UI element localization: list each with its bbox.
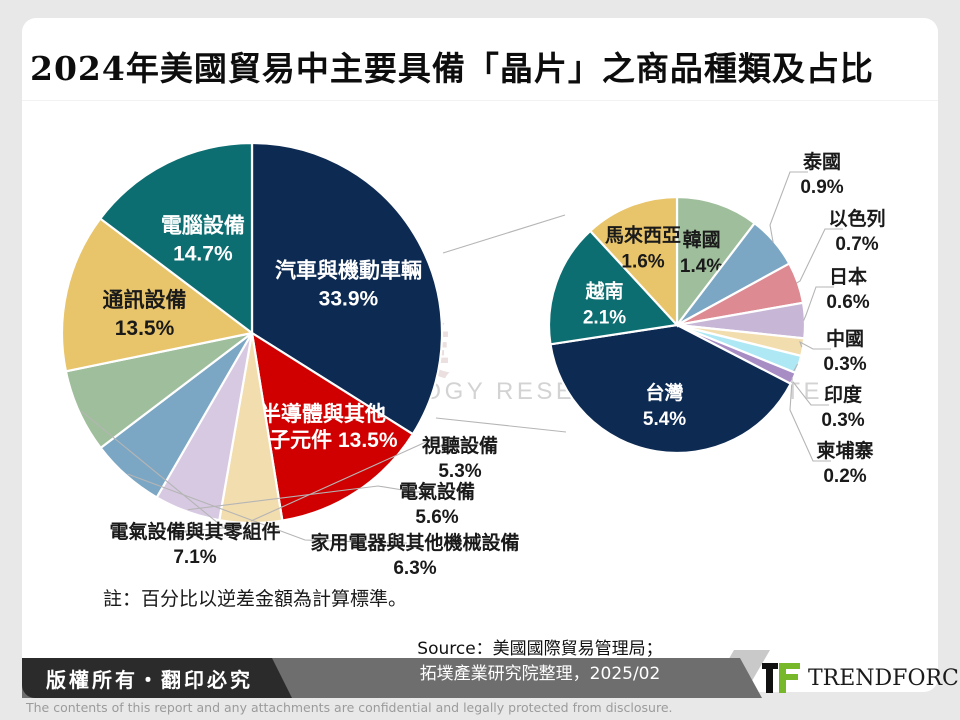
source-line-1: Source：美國國際貿易管理局；	[330, 637, 750, 662]
pie-slice-value: 33.9%	[319, 288, 379, 311]
pie-slice-label: 日本	[829, 265, 867, 288]
pie-slice-value: 0.3%	[823, 354, 866, 375]
pie-slice-value: 0.3%	[821, 410, 864, 431]
pie-slice-value: 6.3%	[393, 558, 436, 579]
explosion-connectors	[436, 215, 566, 432]
copyright-label: 版權所有・翻印必究	[46, 664, 253, 693]
confidentiality-disclaimer: The contents of this report and any atta…	[26, 700, 673, 715]
pie-slice-label: 汽車與機動車輛	[275, 259, 422, 283]
pie-slice-label: 視聽設備	[421, 434, 498, 457]
pie-slice-value: 5.6%	[415, 507, 458, 528]
pie-slice-value: 0.6%	[826, 292, 869, 313]
pie-slice-label: 韓國	[683, 228, 721, 251]
pie-slice-value: 1.6%	[621, 251, 664, 272]
pie-slice-value: 7.1%	[173, 547, 216, 568]
pie-slice-label: 電腦設備	[161, 213, 245, 237]
pie-slice-label: 柬埔寨	[816, 439, 873, 462]
pie-slice-label: 電氣設備與其零組件	[109, 520, 280, 543]
pie-slice-label: 越南	[585, 280, 624, 303]
pie-slice-value: 5.3%	[438, 461, 481, 482]
pie-slice-label: 以色列	[828, 207, 885, 230]
pie-slice-label: 中國	[826, 327, 864, 350]
pie-slice-label: 電氣設備	[399, 480, 475, 503]
pie-slice-value: 0.2%	[823, 466, 866, 487]
pie-slice-label: 台灣	[646, 381, 684, 404]
pie-slice-label: 印度	[824, 383, 863, 406]
pie-slice-label: 通訊設備	[102, 288, 186, 312]
pie-slice-label: 家用電器與其他機械設備	[310, 531, 519, 554]
slide-canvas: 2024年美國貿易中主要具備「晶片」之商品種類及占比 拓墣 RI TOPOLOG…	[0, 0, 960, 720]
trendforce-mark-icon	[762, 663, 800, 693]
pie-charts: 汽車與機動車輛33.9%半導體與其他電子元件 13.5%視聽設備5.3%電氣設備…	[0, 0, 960, 720]
source-line-2: 拓墣產業研究院整理，2025/02	[330, 662, 750, 687]
pie-slice-value: 13.5%	[115, 317, 175, 340]
trendforce-logo: TRENDFORCE	[762, 660, 960, 696]
pie-slice-value: 5.4%	[643, 409, 686, 430]
pie-slice-label: 馬來西亞	[605, 223, 681, 246]
source-credit: Source：美國國際貿易管理局； 拓墣產業研究院整理，2025/02	[330, 637, 750, 686]
pie-slice-label: 泰國	[802, 150, 841, 173]
pie-slice-value: 0.7%	[835, 234, 878, 255]
pie-slice-value: 0.9%	[800, 177, 843, 198]
trendforce-wordmark: TRENDFORCE	[808, 666, 960, 691]
copyright-tab: 版權所有・翻印必究	[22, 658, 292, 698]
pie-slice-label: 半導體與其他	[260, 402, 386, 426]
pie-slice-value: 14.7%	[173, 242, 233, 265]
chart-note: 註：百分比以逆差金額為計算標準。	[103, 584, 407, 611]
pie-slice-value: 2.1%	[583, 308, 626, 329]
